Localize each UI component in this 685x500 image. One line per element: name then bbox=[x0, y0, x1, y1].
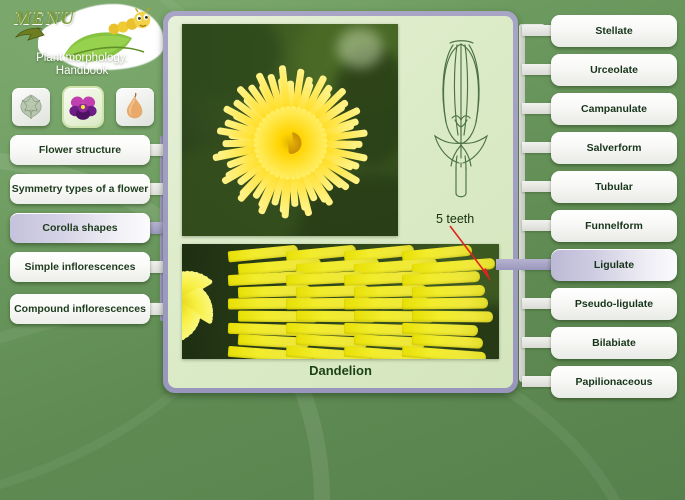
tree-connector-stub bbox=[522, 298, 553, 309]
tree-connector-stub bbox=[522, 376, 553, 387]
left-menu-item[interactable]: Symmetry types of a flower bbox=[10, 174, 150, 204]
right-menu-item[interactable]: Tubular bbox=[551, 171, 677, 203]
right-menu-button[interactable]: Campanulate bbox=[551, 93, 677, 125]
ligulate-floret bbox=[402, 298, 488, 309]
content-panel: 5 teeth Dandelion bbox=[163, 11, 518, 393]
right-menu-button[interactable]: Funnelform bbox=[551, 210, 677, 242]
category-button-leaf[interactable] bbox=[12, 88, 50, 126]
caterpillar-icon bbox=[106, 8, 154, 38]
right-menu-item[interactable]: Pseudo-ligulate bbox=[551, 288, 677, 320]
left-menu-item[interactable]: Simple inflorescences bbox=[10, 252, 150, 282]
content-panel-inner: 5 teeth Dandelion bbox=[168, 16, 513, 388]
tree-connector-stub bbox=[522, 220, 553, 231]
app-title-line1: Plant morphology. bbox=[0, 52, 164, 65]
right-menu-button[interactable]: Ligulate bbox=[551, 249, 677, 281]
tree-connector-stub bbox=[522, 64, 553, 75]
right-menu-item[interactable]: Funnelform bbox=[551, 210, 677, 242]
right-menu-item[interactable]: Urceolate bbox=[551, 54, 677, 86]
app-title-line2: Handbook bbox=[0, 65, 164, 78]
left-menu-item[interactable]: Compound inflorescences bbox=[10, 294, 150, 324]
right-menu-button[interactable]: Papilionaceous bbox=[551, 366, 677, 398]
ligulate-floret bbox=[412, 311, 493, 322]
flower-icon bbox=[68, 92, 98, 122]
left-menu-button[interactable]: Symmetry types of a flower bbox=[10, 174, 150, 204]
right-menu-button[interactable]: Pseudo-ligulate bbox=[551, 288, 677, 320]
right-menu-button[interactable]: Stellate bbox=[551, 15, 677, 47]
tree-connector-stub bbox=[522, 259, 553, 270]
right-menu-item[interactable]: Ligulate bbox=[551, 249, 677, 281]
left-menu-button[interactable]: Corolla shapes bbox=[10, 213, 150, 243]
leaf-icon bbox=[16, 92, 46, 122]
fruit-icon bbox=[120, 92, 150, 122]
right-menu-button[interactable]: Tubular bbox=[551, 171, 677, 203]
tree-connector-stub bbox=[522, 142, 553, 153]
left-menu-button[interactable]: Compound inflorescences bbox=[10, 294, 150, 324]
logo-header[interactable]: MENU Plant morphology. Handbook bbox=[0, 0, 165, 86]
right-menu-item[interactable]: Stellate bbox=[551, 15, 677, 47]
tree-connector-stub bbox=[522, 25, 553, 36]
app-root: MENU Plant morphology. Handbook bbox=[0, 0, 685, 500]
left-menu-item[interactable]: Flower structure bbox=[10, 135, 150, 165]
left-menu-button[interactable]: Flower structure bbox=[10, 135, 150, 165]
left-menu-item[interactable]: Corolla shapes bbox=[10, 213, 150, 243]
menu-label[interactable]: MENU bbox=[14, 8, 75, 30]
ligulate-floret-diagram bbox=[411, 30, 511, 210]
right-menu-button[interactable]: Bilabiate bbox=[551, 327, 677, 359]
category-button-fruit[interactable] bbox=[116, 88, 154, 126]
teeth-arrow-icon bbox=[448, 224, 508, 292]
right-menu-item[interactable]: Papilionaceous bbox=[551, 366, 677, 398]
right-menu-item[interactable]: Bilabiate bbox=[551, 327, 677, 359]
category-button-flower[interactable] bbox=[64, 88, 102, 126]
tree-connector-stub bbox=[522, 181, 553, 192]
right-menu-item[interactable]: Campanulate bbox=[551, 93, 677, 125]
dandelion-photo-top[interactable] bbox=[182, 24, 398, 236]
app-title: Plant morphology. Handbook bbox=[0, 52, 164, 78]
right-menu-item[interactable]: Salverform bbox=[551, 132, 677, 164]
tree-connector-stub bbox=[522, 337, 553, 348]
right-menu-button[interactable]: Salverform bbox=[551, 132, 677, 164]
tree-connector-stub bbox=[522, 103, 553, 114]
right-tree-rail bbox=[519, 24, 525, 382]
left-menu-button[interactable]: Simple inflorescences bbox=[10, 252, 150, 282]
right-menu-button[interactable]: Urceolate bbox=[551, 54, 677, 86]
photo-caption: Dandelion bbox=[168, 363, 513, 378]
category-button-row bbox=[12, 88, 154, 126]
